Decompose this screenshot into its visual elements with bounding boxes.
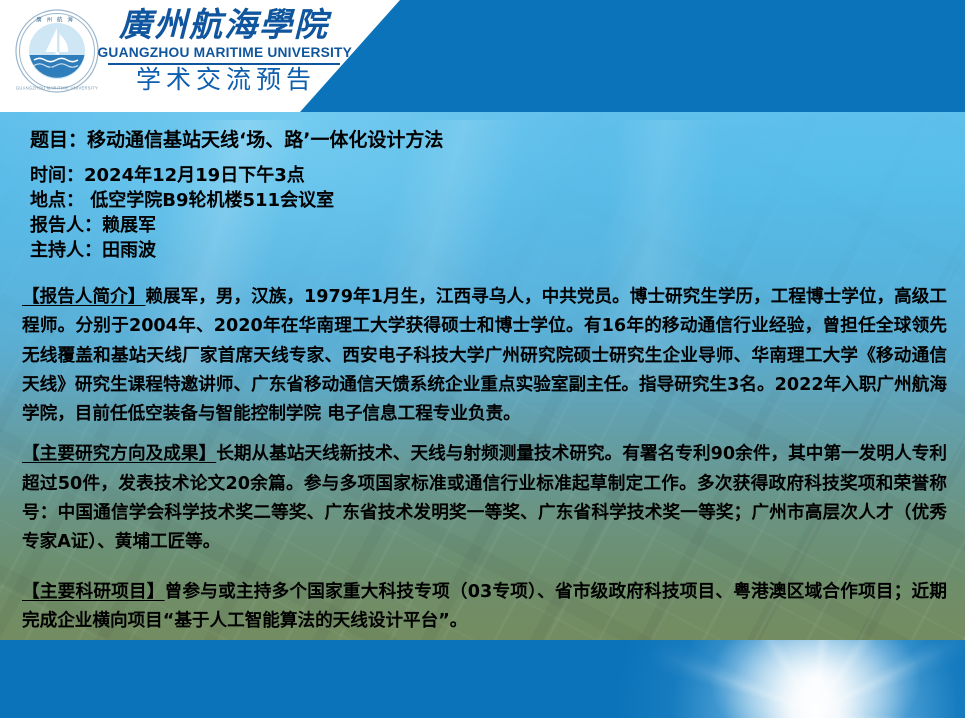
lecture-body: 【报告人简介】赖展军，男，汉族，1979年1月生，江西寻乌人，中共党员。博士研究… [22,283,947,647]
banner-subtitle: 学术交流预告 [100,65,348,95]
lecture-info-block: 题目：移动通信基站天线‘场、路’一体化设计方法 时间：2024年12月19日下午… [30,126,910,263]
research-paragraph: 【主要研究方向及成果】长期从基站天线新技术、天线与射频测量技术研究。有署名专利9… [22,440,947,557]
lecture-host: 主持人：田雨波 [30,238,910,263]
speaker-bio-tag: 【报告人简介】 [22,287,145,307]
svg-text:廣州航海: 廣州航海 [36,16,78,24]
projects-paragraph: 【主要科研项目】曾参与或主持多个国家重大科技专项（03专项）、省市级政府科技项目… [22,578,947,637]
svg-text:GUANGZHOU MARITIME UNIVERSITY: GUANGZHOU MARITIME UNIVERSITY [16,86,98,91]
lecture-time: 时间：2024年12月19日下午3点 [30,163,910,188]
academic-lecture-poster: 1964 廣州航海 GUANGZHOU MARITIME UNIVERSITY … [0,0,965,718]
speaker-bio-paragraph: 【报告人简介】赖展军，男，汉族，1979年1月生，江西寻乌人，中共党员。博士研究… [22,283,947,429]
university-name-cn: 廣州航海學院 [100,6,348,44]
poster-header: 1964 廣州航海 GUANGZHOU MARITIME UNIVERSITY … [0,0,965,112]
speaker-bio-text: 赖展军，男，汉族，1979年1月生，江西寻乌人，中共党员。博士研究生学历，工程博… [22,287,947,424]
lecture-speaker: 报告人：赖展军 [30,213,910,238]
poster-footer-band [0,640,965,718]
university-seal-icon: 1964 廣州航海 GUANGZHOU MARITIME UNIVERSITY [14,8,100,94]
svg-text:1964: 1964 [49,67,64,74]
research-tag: 【主要研究方向及成果】 [22,444,216,464]
light-burst-core [705,640,925,718]
university-wordmark: 廣州航海學院 GUANGZHOU MARITIME UNIVERSITY 学术交… [100,6,348,95]
projects-tag: 【主要科研项目】 [22,582,165,602]
lecture-title: 题目：移动通信基站天线‘场、路’一体化设计方法 [30,126,910,154]
lecture-place: 地点： 低空学院B9轮机楼511会议室 [30,188,910,213]
university-name-en: GUANGZHOU MARITIME UNIVERSITY [98,44,351,61]
